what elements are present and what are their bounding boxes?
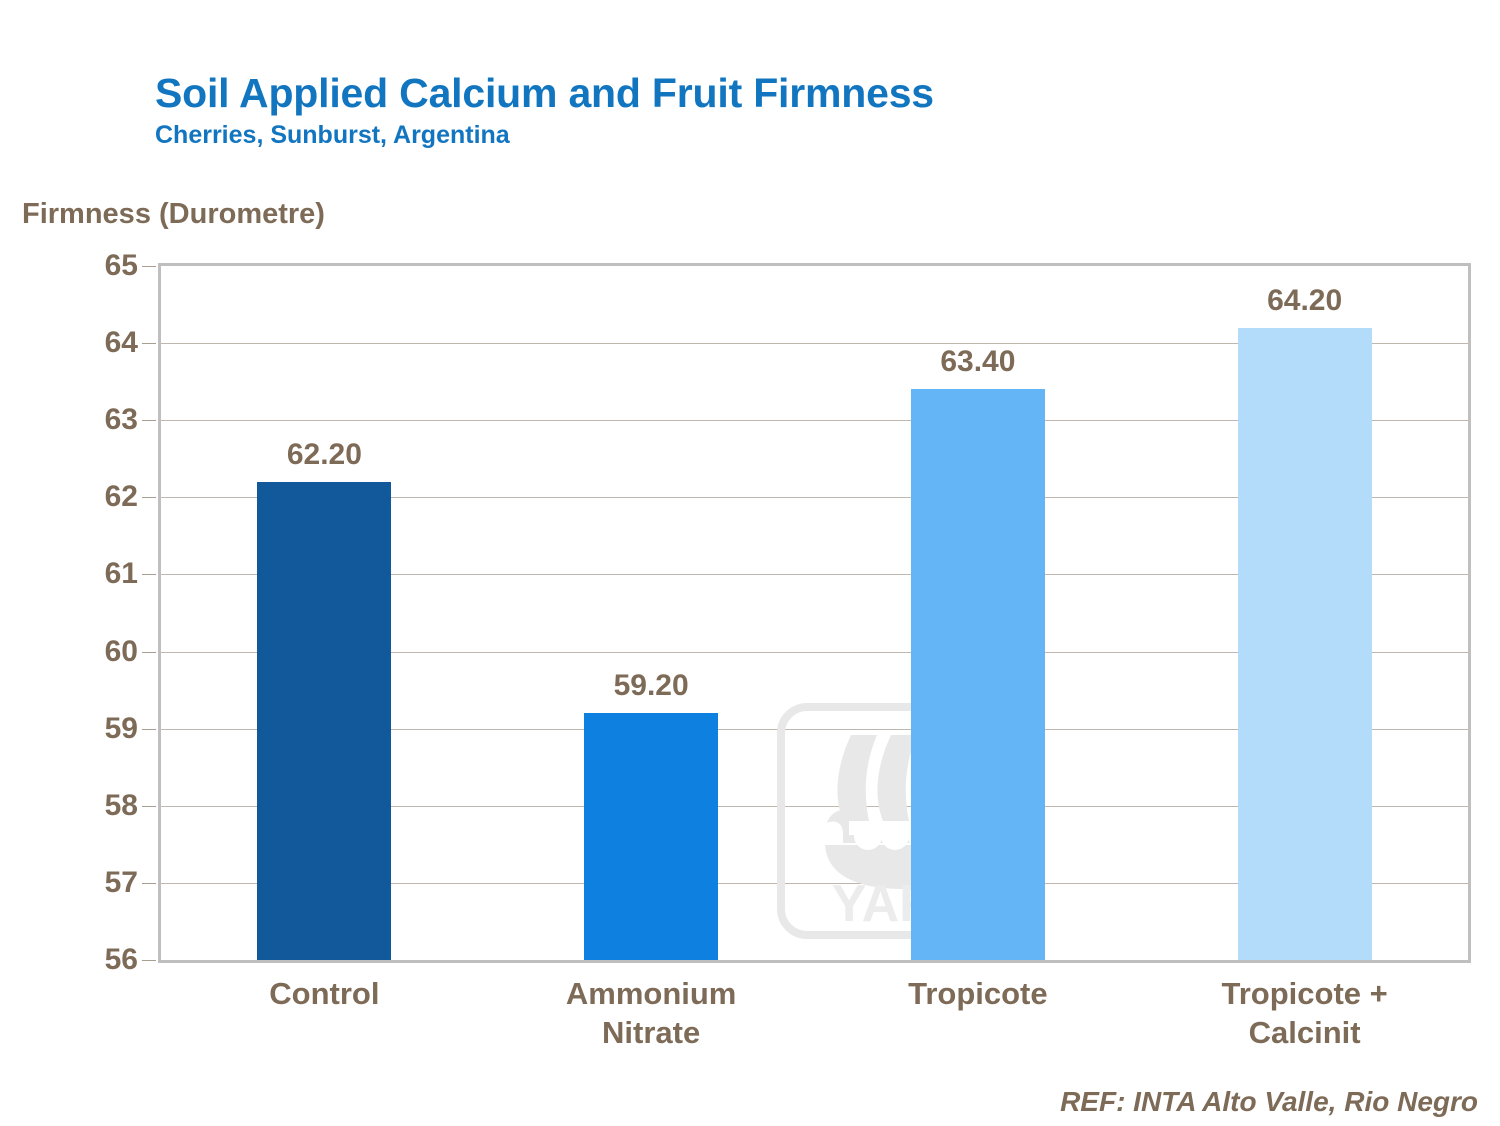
title-block: Soil Applied Calcium and Fruit Firmness … — [155, 72, 1355, 150]
y-axis-tick-label: 60 — [46, 637, 138, 667]
bar-group: 59.20 — [488, 266, 815, 960]
x-axis-category-label: Control — [161, 975, 488, 1014]
y-axis-tick-label: 64 — [46, 328, 138, 358]
x-axis-category-label-line: Tropicote — [815, 975, 1142, 1014]
y-axis-tick-mark — [142, 960, 156, 961]
y-axis-tick-mark — [142, 652, 156, 653]
x-axis-category-labels: ControlAmmoniumNitrateTropicoteTropicote… — [161, 975, 1468, 1095]
y-axis-tick-label: 59 — [46, 714, 138, 744]
y-axis-tick-label: 57 — [46, 868, 138, 898]
bar[interactable] — [257, 482, 391, 960]
bar-group: 62.20 — [161, 266, 488, 960]
chart-plot-wrapper: YARA 62.2059.2063.4064.20 — [158, 263, 1471, 963]
y-axis-tick-label: 61 — [46, 559, 138, 589]
y-axis-tick-label: 65 — [46, 251, 138, 281]
y-axis-title: Firmness (Durometre) — [22, 198, 325, 231]
page-title: Soil Applied Calcium and Fruit Firmness — [155, 72, 1355, 115]
y-axis-tick-mark — [142, 266, 156, 267]
bar-value-label: 59.20 — [614, 671, 689, 701]
bar-value-label: 62.20 — [287, 440, 362, 470]
y-axis-tick-labels: 65646362616059585756 — [46, 263, 138, 963]
page-subtitle: Cherries, Sunburst, Argentina — [155, 122, 1355, 150]
x-axis-category-label: Tropicote +Calcinit — [1141, 975, 1468, 1053]
y-axis-tick-mark — [142, 343, 156, 344]
y-axis-tick-label: 58 — [46, 791, 138, 821]
bar-value-label: 64.20 — [1267, 286, 1342, 316]
bar-group: 63.40 — [815, 266, 1142, 960]
x-axis-category-label: Tropicote — [815, 975, 1142, 1014]
y-axis-tick-mark — [142, 574, 156, 575]
bar-value-label: 63.40 — [940, 347, 1015, 377]
x-axis-category-label-line: Nitrate — [488, 1014, 815, 1053]
x-axis-category-label-line: Control — [161, 975, 488, 1014]
y-axis-tick-label: 62 — [46, 482, 138, 512]
x-axis-category-label-line: Ammonium — [488, 975, 815, 1014]
x-axis-category-label-line: Tropicote + — [1141, 975, 1468, 1014]
y-axis-tick-mark — [142, 806, 156, 807]
bar[interactable] — [1238, 328, 1372, 960]
y-axis-tick-mark — [142, 729, 156, 730]
y-axis-tick-mark — [142, 497, 156, 498]
bar-series: 62.2059.2063.4064.20 — [161, 266, 1468, 960]
x-axis-category-label: AmmoniumNitrate — [488, 975, 815, 1053]
reference-note: REF: INTA Alto Valle, Rio Negro — [1060, 1086, 1478, 1118]
y-axis-tick-label: 56 — [46, 945, 138, 975]
y-axis-tick-label: 63 — [46, 405, 138, 435]
bar[interactable] — [584, 713, 718, 960]
x-axis-category-label-line: Calcinit — [1141, 1014, 1468, 1053]
y-axis-tick-mark — [142, 420, 156, 421]
y-axis-tick-mark — [142, 883, 156, 884]
bar-group: 64.20 — [1141, 266, 1468, 960]
bar[interactable] — [911, 389, 1045, 960]
